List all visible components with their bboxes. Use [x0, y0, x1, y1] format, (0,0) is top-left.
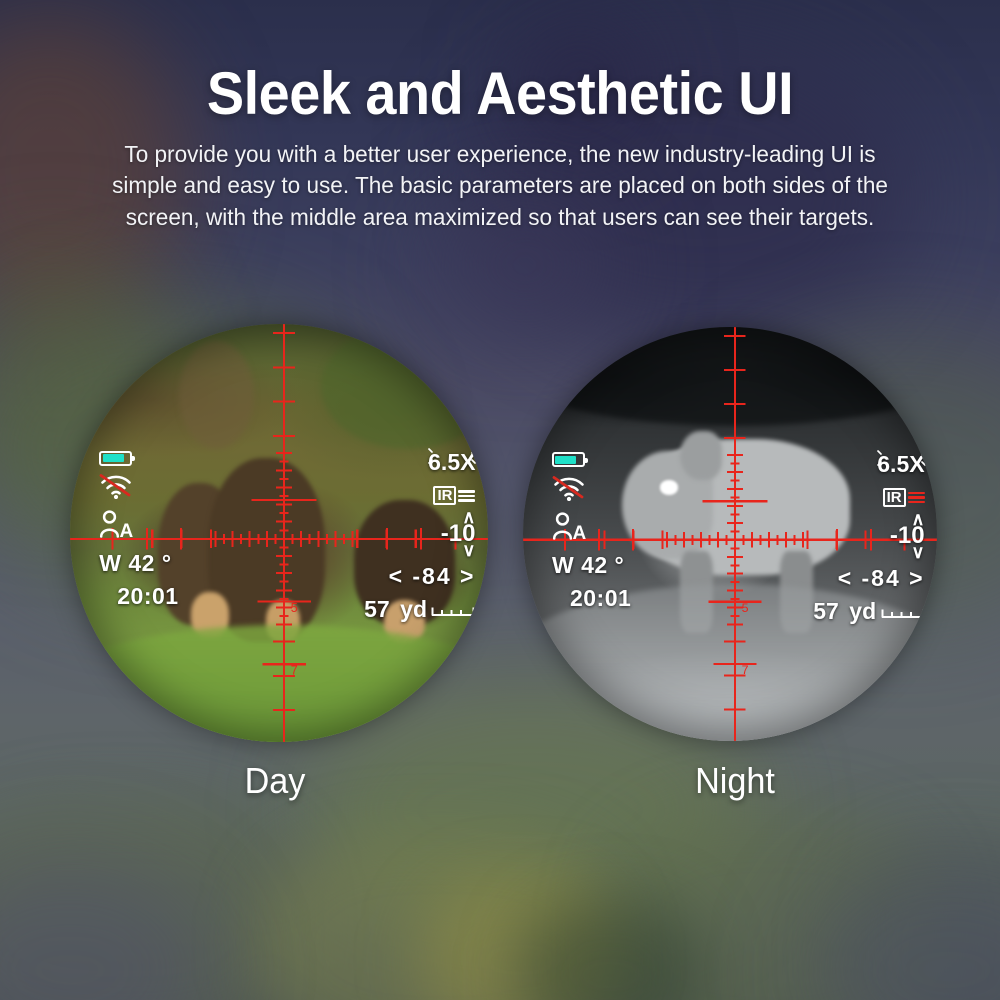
scope-lens-day: 57	[70, 324, 488, 742]
scope-lens-night: 57	[523, 327, 937, 741]
night-boar-eye	[660, 480, 679, 494]
day-tree-branch	[179, 341, 254, 450]
scope-night: 57	[523, 327, 937, 741]
day-grass-foreground	[70, 625, 488, 742]
night-sky-dark	[523, 327, 937, 426]
page-subtitle: To provide you with a better user experi…	[102, 139, 899, 233]
day-foliage-top-right	[321, 324, 488, 449]
scope-caption-day: Day	[180, 760, 370, 802]
page-title: Sleek and Aesthetic UI	[35, 62, 965, 125]
night-boar-ear	[680, 431, 721, 481]
header: Sleek and Aesthetic UI To provide you wi…	[0, 0, 1000, 233]
scope-day: 57	[70, 324, 488, 742]
scope-caption-night: Night	[640, 760, 830, 802]
night-grass-foreground	[523, 584, 937, 741]
